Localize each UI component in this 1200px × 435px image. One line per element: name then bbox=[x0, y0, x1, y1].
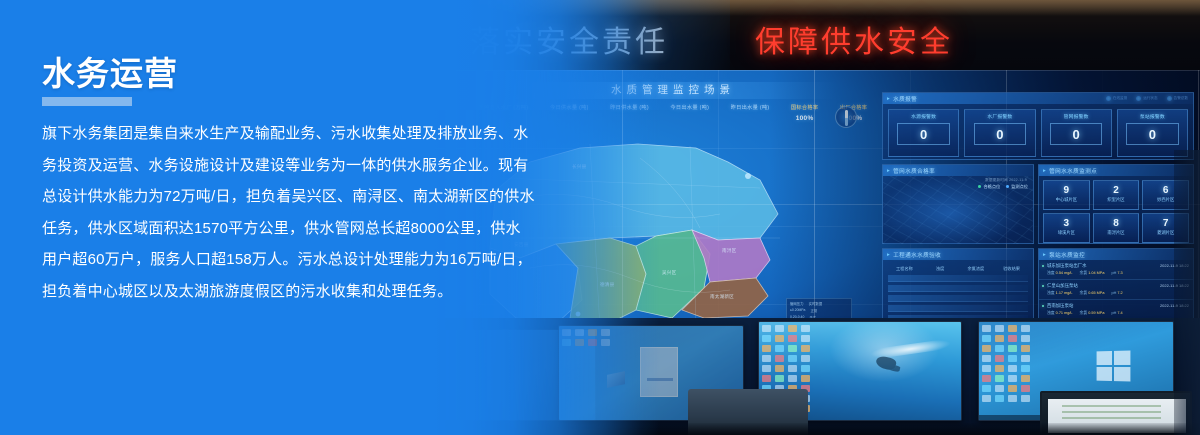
intro-line: 任务，供水区域面积达1570平方公里，供水管网总长超8000公里，供水 bbox=[42, 213, 547, 245]
legend-entry: 合格点位 bbox=[978, 184, 1000, 190]
panel-title: 管网水水质监测点 bbox=[1049, 167, 1097, 175]
desktop-icon bbox=[1008, 345, 1017, 352]
monitor-point-value: 8 bbox=[1094, 218, 1139, 229]
intro-panel: 水务运营 旗下水务集团是集自来水生产及输配业务、污水收集处理及排放业务、水 务投… bbox=[0, 0, 560, 435]
desktop-icon bbox=[762, 345, 771, 352]
alert-card: 管网报警数 0 bbox=[1041, 109, 1112, 157]
alert-card-value: 0 bbox=[1126, 123, 1179, 145]
desktop-icon bbox=[982, 335, 991, 342]
desktop-icon bbox=[788, 355, 797, 362]
desktop-icon bbox=[801, 355, 810, 362]
intro-line: 务投资及运营、水务设施设计及建设等业务为一体的供水服务企业。现有 bbox=[42, 150, 547, 182]
monitor-point-label: 埭溪片区 bbox=[1044, 230, 1089, 236]
alert-card: 水厂报警数 0 bbox=[964, 109, 1035, 157]
panel-network-quality-rate: ▸ 管网水质合格率 数据更新时间 2022-11-9 合格点位 监测点位 bbox=[882, 164, 1034, 244]
desktop-icon bbox=[788, 335, 797, 342]
log-item-name: 仁皇山加压泵站 bbox=[1047, 283, 1078, 289]
intro-paragraph: 旗下水务集团是集自来水生产及输配业务、污水收集处理及排放业务、水 务投资及运营、… bbox=[42, 118, 547, 307]
panel-title: 管网水质合格率 bbox=[893, 167, 935, 175]
panel-water-quality-alerts: ▸ 水质报警 水源报警数 0 水厂报警数 0 bbox=[882, 92, 1194, 160]
table-row bbox=[888, 295, 1028, 302]
desktop-icon bbox=[762, 335, 771, 342]
desktop-icon bbox=[1021, 375, 1030, 382]
alert-card-label: 水厂报警数 bbox=[965, 113, 1034, 120]
desktop-icon bbox=[788, 375, 797, 382]
title-accent-bar bbox=[42, 97, 132, 106]
log-item-header: 西南加压泵站 2022-11-9 18:22 bbox=[1047, 303, 1189, 309]
water-operations-banner: 落实安全责任 保障供水安全 水质管理监控场景 千吨万人水厂 (万吨) 今日供水量… bbox=[0, 0, 1200, 435]
desktop-icon bbox=[775, 375, 784, 382]
monitor-point-cell: 2 织里片区 bbox=[1093, 180, 1140, 210]
panel-title: 泵站水质监控 bbox=[1049, 251, 1085, 259]
desktop-icon bbox=[995, 325, 1004, 332]
log-metric: 浊度 0.54 mg/L bbox=[1047, 271, 1073, 276]
monitor-point-label: 南浔片区 bbox=[1094, 230, 1139, 236]
log-item-name: 城东加压泵站出厂水 bbox=[1047, 263, 1087, 269]
desktop-icon bbox=[982, 385, 991, 392]
monitor-point-grid: 9 中心城片区 2 织里片区 6 妙西片区 3 bbox=[1039, 176, 1193, 247]
panel-monitor-points: ▸ 管网水水质监测点 9 中心城片区 2 织里片区 6 bbox=[1038, 164, 1194, 244]
log-metric: 浊度 0.71 mg/L bbox=[1047, 311, 1073, 316]
panel-header: ▸ 管网水水质监测点 bbox=[1039, 165, 1193, 176]
chevron-right-icon: ▸ bbox=[1043, 252, 1046, 258]
monitor-point-value: 9 bbox=[1044, 185, 1089, 196]
alert-card-label: 泵站报警数 bbox=[1118, 113, 1187, 120]
chevron-right-icon: ▸ bbox=[1043, 168, 1046, 174]
panel-title: 水质报警 bbox=[893, 95, 917, 103]
table-row bbox=[888, 305, 1028, 312]
desktop-icon bbox=[775, 355, 784, 362]
chevron-right-icon: ▸ bbox=[887, 252, 890, 258]
log-metric: pH 7.4 bbox=[1111, 311, 1122, 316]
intro-line: 用户超60万户，服务人口超158万人。污水总设计处理能力为16万吨/日， bbox=[42, 244, 547, 276]
monitor-point-label: 中心城片区 bbox=[1044, 197, 1089, 203]
legend-label: 合格点位 bbox=[983, 184, 1000, 189]
log-metric: 余氯 1.04 MPa bbox=[1080, 271, 1105, 276]
desktop-icon bbox=[995, 335, 1004, 342]
panel-header: ▸ 泵站水质监控 bbox=[1039, 249, 1193, 260]
alert-card-label: 水源报警数 bbox=[889, 113, 958, 120]
desktop-icon bbox=[775, 335, 784, 342]
led-slogan-right: 保障供水安全 bbox=[755, 22, 953, 64]
desktop-icon bbox=[788, 325, 797, 332]
alert-card-value: 0 bbox=[974, 123, 1027, 145]
acceptance-table-header: 工程名称 浊度 余氯浓度 验收结果 bbox=[883, 260, 1033, 272]
alert-card-label: 管网报警数 bbox=[1042, 113, 1111, 120]
quality-rate-note: 数据更新时间 2022-11-9 bbox=[985, 178, 1027, 183]
table-row bbox=[888, 275, 1028, 282]
log-item: 仁皇山加压泵站 2022-11-9 18:22 浊度 1.17 mg/L 余氯 … bbox=[1039, 280, 1193, 300]
monitor-point-value: 2 bbox=[1094, 185, 1139, 196]
panel-header: ▸ 管网水质合格率 bbox=[883, 165, 1033, 176]
monitor-point-cell: 3 埭溪片区 bbox=[1043, 213, 1090, 243]
desktop-icon bbox=[995, 345, 1004, 352]
desktop-icon bbox=[1021, 355, 1030, 362]
desktop-icon bbox=[775, 345, 784, 352]
desktop-icon bbox=[775, 325, 784, 332]
panel-title: 工程通水水质验收 bbox=[893, 251, 941, 259]
desktop-icon bbox=[801, 345, 810, 352]
log-item-metrics: 浊度 1.17 mg/L 余氯 0.65 MPa pH 7.2 bbox=[1047, 291, 1189, 296]
desktop-icon bbox=[982, 375, 991, 382]
desktop-icon bbox=[1021, 325, 1030, 332]
alert-card: 水源报警数 0 bbox=[888, 109, 959, 157]
log-metric: 浊度 1.17 mg/L bbox=[1047, 291, 1073, 296]
desktop-icon bbox=[995, 395, 1004, 402]
log-metric: 余氯 0.65 MPa bbox=[1080, 291, 1105, 296]
desktop-icon bbox=[1021, 345, 1030, 352]
log-item-metrics: 浊度 0.71 mg/L 余氯 0.59 MPa pH 7.4 bbox=[1047, 311, 1189, 316]
side-equipment-rack bbox=[1174, 150, 1200, 435]
legend-label: 监测点位 bbox=[1011, 184, 1028, 189]
panel-header: ▸ 水质报警 bbox=[883, 93, 1193, 104]
log-item-name: 西南加压泵站 bbox=[1047, 303, 1073, 309]
alert-card-list: 水源报警数 0 水厂报警数 0 管网报警数 0 bbox=[883, 104, 1193, 157]
desktop-icon bbox=[775, 365, 784, 372]
log-metric: pH 7.2 bbox=[1111, 291, 1122, 296]
desktop-icon bbox=[1008, 325, 1017, 332]
intro-line: 总设计供水能力为72万吨/日，担负着吴兴区、南浔区、南太湖新区的供水 bbox=[42, 181, 547, 213]
intro-line: 旗下水务集团是集自来水生产及输配业务、污水收集处理及排放业务、水 bbox=[42, 118, 547, 150]
desktop-icon bbox=[1008, 335, 1017, 342]
quality-rate-legend: 合格点位 监测点位 bbox=[978, 184, 1028, 190]
desktop-icon bbox=[801, 365, 810, 372]
desktop-icon bbox=[1021, 385, 1030, 392]
dashboard-panels: 在线监测 运行状态 告警总数 ▸ 水质报警 bbox=[882, 92, 1194, 332]
monitor-point-cell: 8 南浔片区 bbox=[1093, 213, 1140, 243]
legend-entry: 监测点位 bbox=[1006, 184, 1028, 190]
desktop-icon bbox=[982, 345, 991, 352]
alert-card-value: 0 bbox=[897, 123, 950, 145]
desktop-icon bbox=[995, 355, 1004, 362]
desktop-icon-grid bbox=[982, 325, 1032, 402]
desktop-icon bbox=[995, 365, 1004, 372]
desktop-icon bbox=[1008, 395, 1017, 402]
desktop-icon bbox=[788, 345, 797, 352]
chevron-right-icon: ▸ bbox=[887, 168, 890, 174]
desktop-icon bbox=[762, 375, 771, 382]
desktop-icon bbox=[788, 365, 797, 372]
desktop-icon bbox=[982, 325, 991, 332]
desktop-icon bbox=[801, 335, 810, 342]
desktop-icon bbox=[762, 355, 771, 362]
desktop-icon bbox=[762, 365, 771, 372]
log-item-header: 仁皇山加压泵站 2022-11-9 18:22 bbox=[1047, 283, 1189, 289]
desktop-icon bbox=[801, 325, 810, 332]
desktop-icon bbox=[801, 375, 810, 382]
column-header: 验收结果 bbox=[995, 266, 1028, 272]
desktop-icon bbox=[1021, 395, 1030, 402]
desktop-icon bbox=[1021, 365, 1030, 372]
legend-dot-icon bbox=[978, 185, 981, 188]
desktop-icon bbox=[982, 355, 991, 362]
log-item-metrics: 浊度 0.54 mg/L 余氯 1.04 MPa pH 7.3 bbox=[1047, 271, 1189, 276]
desktop-icon bbox=[982, 365, 991, 372]
desktop-icon bbox=[762, 325, 771, 332]
log-metric: pH 7.3 bbox=[1111, 271, 1122, 276]
log-item: 城东加压泵站出厂水 2022-11-9 18:22 浊度 0.54 mg/L 余… bbox=[1039, 260, 1193, 280]
log-item: 西南加压泵站 2022-11-9 18:22 浊度 0.71 mg/L 余氯 0… bbox=[1039, 300, 1193, 320]
windows-logo-icon bbox=[1097, 351, 1131, 382]
page-title: 水务运营 bbox=[42, 54, 178, 94]
monitor-point-cell: 9 中心城片区 bbox=[1043, 180, 1090, 210]
panel-header: ▸ 工程通水水质验收 bbox=[883, 249, 1033, 260]
monitor-point-value: 3 bbox=[1044, 218, 1089, 229]
desktop-icon bbox=[1008, 355, 1017, 362]
column-header: 工程名称 bbox=[888, 266, 921, 272]
desktop-icon bbox=[1008, 365, 1017, 372]
desktop-icon bbox=[1008, 385, 1017, 392]
desktop-icon bbox=[995, 385, 1004, 392]
intro-line: 担负着中心城区以及太湖旅游度假区的污水收集和处理任务。 bbox=[42, 276, 547, 308]
chevron-right-icon: ▸ bbox=[887, 96, 890, 102]
legend-dot-icon bbox=[1006, 185, 1009, 188]
log-item-header: 城东加压泵站出厂水 2022-11-9 18:22 bbox=[1047, 263, 1189, 269]
log-metric: 余氯 0.59 MPa bbox=[1080, 311, 1105, 316]
monitor-point-label: 织里片区 bbox=[1094, 197, 1139, 203]
desktop-icon bbox=[1008, 375, 1017, 382]
desktop-icon bbox=[1021, 335, 1030, 342]
panel-body: 数据更新时间 2022-11-9 合格点位 监测点位 bbox=[883, 176, 1033, 244]
table-row bbox=[888, 285, 1028, 292]
desktop-icon bbox=[995, 375, 1004, 382]
alert-card-value: 0 bbox=[1050, 123, 1103, 145]
desktop-icon bbox=[982, 395, 991, 402]
column-header: 浊度 bbox=[924, 266, 957, 272]
swimmer-figure bbox=[875, 355, 897, 371]
column-header: 余氯浓度 bbox=[960, 266, 993, 272]
